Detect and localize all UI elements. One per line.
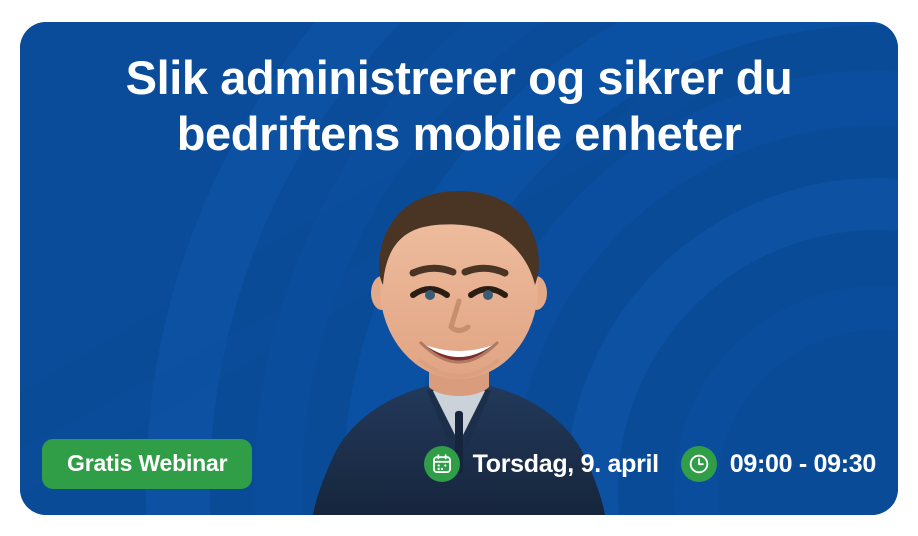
- webinar-promo-card: Slik administrerer og sikrer du bedrifte…: [20, 22, 898, 515]
- webinar-info-bar: Gratis Webinar Torsdag, 9. april: [20, 433, 898, 495]
- webinar-schedule-group: Torsdag, 9. april 09:00 - 09:30: [424, 446, 876, 482]
- calendar-icon: [424, 446, 460, 482]
- title-line-1: Slik administrerer og sikrer du: [54, 50, 864, 106]
- webinar-time-item: 09:00 - 09:30: [681, 446, 876, 482]
- webinar-time-text: 09:00 - 09:30: [730, 452, 876, 477]
- free-webinar-badge[interactable]: Gratis Webinar: [42, 439, 252, 489]
- webinar-date-text: Torsdag, 9. april: [473, 452, 659, 477]
- webinar-date-item: Torsdag, 9. april: [424, 446, 659, 482]
- title-line-2: bedriftens mobile enheter: [54, 106, 864, 162]
- webinar-title: Slik administrerer og sikrer du bedrifte…: [20, 50, 898, 162]
- clock-icon: [681, 446, 717, 482]
